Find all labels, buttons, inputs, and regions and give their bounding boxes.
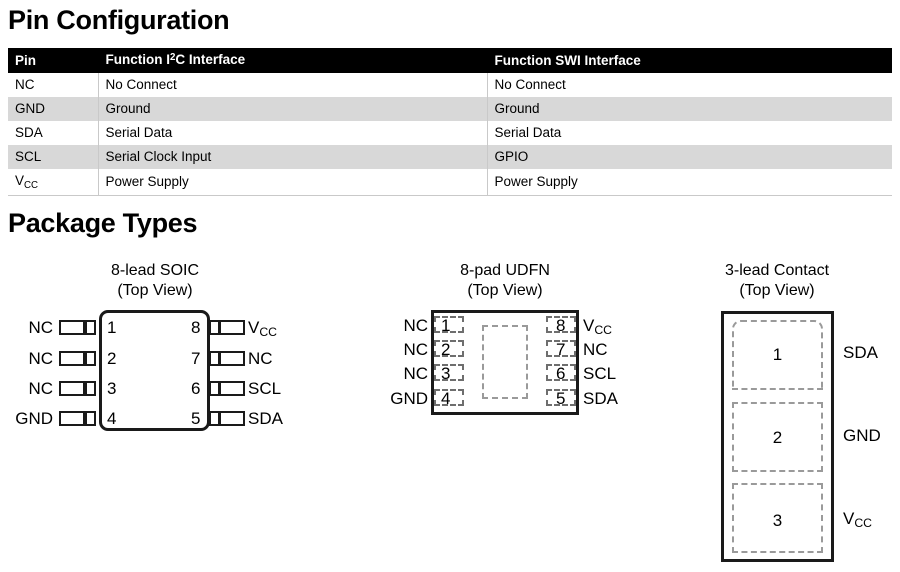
soic-pin-num-8: 8 xyxy=(191,319,200,336)
cell-swi: Ground xyxy=(487,97,892,121)
cell-i2c: No Connect xyxy=(98,73,487,97)
table-row: SDA Serial Data Serial Data xyxy=(8,121,892,145)
udfn-label-pad-2: NC xyxy=(330,341,428,358)
cell-i2c: Ground xyxy=(98,97,487,121)
udfn-label-pad-3: NC xyxy=(330,365,428,382)
contact-title: 3-lead Contact (Top View) xyxy=(661,261,893,301)
table-row: SCL Serial Clock Input GPIO xyxy=(8,145,892,169)
soic-pin-num-4: 4 xyxy=(107,410,116,427)
soic-label-pin-3: NC xyxy=(0,380,53,397)
contact-pad-num-2: 2 xyxy=(732,428,823,448)
soic-pin-num-7: 7 xyxy=(191,350,200,367)
cell-pin: NC xyxy=(8,73,98,97)
contact-label-pad-2: GND xyxy=(843,427,881,444)
soic-lead-6-wide xyxy=(219,381,245,396)
contact-title-line1: 3-lead Contact xyxy=(661,261,893,281)
cell-pin: GND xyxy=(8,97,98,121)
soic-label-pin-8: VCC xyxy=(248,319,277,338)
cell-swi: No Connect xyxy=(487,73,892,97)
soic-pin-num-3: 3 xyxy=(107,380,116,397)
soic-lead-7-wide xyxy=(219,351,245,366)
soic-lead-2-narrow xyxy=(85,351,96,366)
cell-pin: SCL xyxy=(8,145,98,169)
udfn-pad-num-2: 2 xyxy=(441,341,450,358)
udfn-title-line2: (Top View) xyxy=(389,281,621,301)
pin-configuration-table: Pin Function I2C Interface Function SWI … xyxy=(8,48,892,196)
soic-label-pin-2: NC xyxy=(0,350,53,367)
udfn-label-pad-5: SDA xyxy=(583,390,618,407)
cell-swi: GPIO xyxy=(487,145,892,169)
pin-table-body: NC No Connect No Connect GND Ground Grou… xyxy=(8,73,892,196)
column-header-pin: Pin xyxy=(8,48,98,73)
column-header-swi: Function SWI Interface xyxy=(487,48,892,73)
soic-pin-num-2: 2 xyxy=(107,350,116,367)
soic-lead-4-narrow xyxy=(85,411,96,426)
soic-pin-num-1: 1 xyxy=(107,319,116,336)
udfn-pad-num-7: 7 xyxy=(556,341,565,358)
cell-i2c: Power Supply xyxy=(98,169,487,196)
soic-lead-4-wide xyxy=(59,411,85,426)
soic-label-pin-6: SCL xyxy=(248,380,281,397)
page-title-pin-configuration: Pin Configuration xyxy=(8,5,229,36)
table-row: VCC Power Supply Power Supply xyxy=(8,169,892,196)
cell-swi: Serial Data xyxy=(487,121,892,145)
soic-title: 8-lead SOIC (Top View) xyxy=(39,261,271,301)
table-row: GND Ground Ground xyxy=(8,97,892,121)
udfn-pad-num-8: 8 xyxy=(556,317,565,334)
udfn-pad-num-3: 3 xyxy=(441,365,450,382)
contact-pad-num-1: 1 xyxy=(732,345,823,365)
soic-lead-8-narrow xyxy=(209,320,220,335)
udfn-pad-num-5: 5 xyxy=(556,390,565,407)
soic-title-line2: (Top View) xyxy=(39,281,271,301)
contact-label-pad-3: VCC xyxy=(843,510,872,529)
udfn-label-pad-8: VCC xyxy=(583,317,612,336)
cell-i2c: Serial Data xyxy=(98,121,487,145)
soic-title-line1: 8-lead SOIC xyxy=(39,261,271,281)
contact-label-pad-1: SDA xyxy=(843,344,878,361)
udfn-label-pad-4: GND xyxy=(330,390,428,407)
soic-pin-num-6: 6 xyxy=(191,380,200,397)
soic-label-pin-1: NC xyxy=(0,319,53,336)
udfn-label-pad-1: NC xyxy=(330,317,428,334)
soic-lead-2-wide xyxy=(59,351,85,366)
contact-title-line2: (Top View) xyxy=(661,281,893,301)
cell-pin: VCC xyxy=(8,169,98,196)
soic-lead-5-narrow xyxy=(209,411,220,426)
udfn-pad-num-4: 4 xyxy=(441,390,450,407)
table-row: NC No Connect No Connect xyxy=(8,73,892,97)
soic-lead-1-narrow xyxy=(85,320,96,335)
udfn-thermal-pad xyxy=(482,325,528,399)
soic-lead-3-narrow xyxy=(85,381,96,396)
soic-lead-7-narrow xyxy=(209,351,220,366)
udfn-title-line1: 8-pad UDFN xyxy=(389,261,621,281)
contact-pad-num-3: 3 xyxy=(732,511,823,531)
soic-lead-8-wide xyxy=(219,320,245,335)
udfn-pad-num-1: 1 xyxy=(441,317,450,334)
soic-lead-3-wide xyxy=(59,381,85,396)
cell-swi: Power Supply xyxy=(487,169,892,196)
udfn-label-pad-7: NC xyxy=(583,341,608,358)
soic-lead-5-wide xyxy=(219,411,245,426)
cell-i2c: Serial Clock Input xyxy=(98,145,487,169)
udfn-pad-num-6: 6 xyxy=(556,365,565,382)
page-title-package-types: Package Types xyxy=(8,208,197,239)
soic-label-pin-4: GND xyxy=(0,410,53,427)
udfn-title: 8-pad UDFN (Top View) xyxy=(389,261,621,301)
table-header-row: Pin Function I2C Interface Function SWI … xyxy=(8,48,892,73)
soic-label-pin-5: SDA xyxy=(248,410,283,427)
cell-pin: SDA xyxy=(8,121,98,145)
udfn-label-pad-6: SCL xyxy=(583,365,616,382)
soic-lead-6-narrow xyxy=(209,381,220,396)
column-header-i2c: Function I2C Interface xyxy=(98,48,487,73)
soic-pin-num-5: 5 xyxy=(191,410,200,427)
soic-lead-1-wide xyxy=(59,320,85,335)
soic-label-pin-7: NC xyxy=(248,350,273,367)
